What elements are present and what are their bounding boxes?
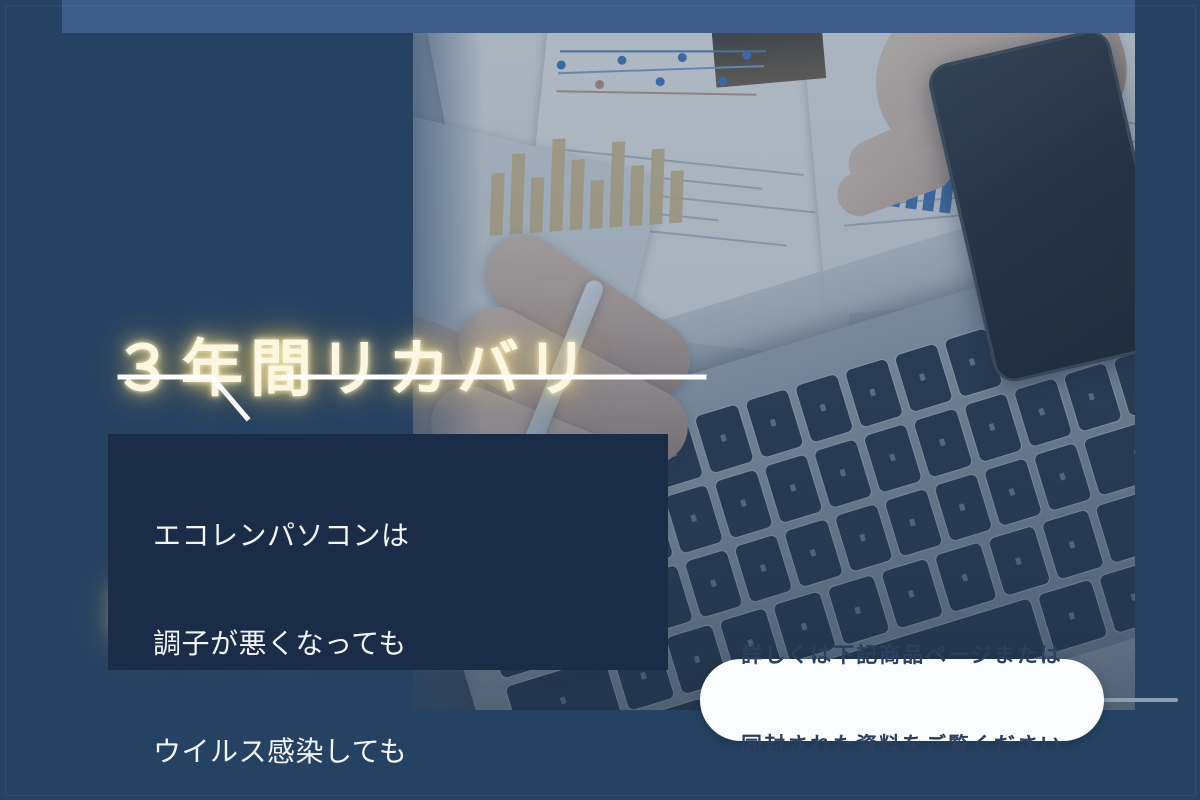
message-lines: エコレンパソコンは 調子が悪くなっても ウイルス感染しても 設定を狂わせてしまっ… <box>153 446 623 800</box>
decorative-divider <box>112 355 712 425</box>
callout-pill: 詳しくは下記商品ページまたは 同封された資料をご覧ください <box>700 659 1104 741</box>
message-box: エコレンパソコンは 調子が悪くなっても ウイルス感染しても 設定を狂わせてしまっ… <box>108 434 668 670</box>
message-line-1: エコレンパソコンは <box>153 518 623 554</box>
callout-line-2: 同封された資料をご覧ください <box>741 730 1063 760</box>
message-line-2: 調子が悪くなっても <box>153 626 623 662</box>
callout-line-1: 詳しくは下記商品ページまたは <box>741 640 1063 670</box>
promotional-banner: ３年間リカバリ 初期化サービス エコレンパソコンは 調子が悪くなっても ウイルス… <box>0 0 1200 800</box>
message-line-3: ウイルス感染しても <box>153 734 623 770</box>
top-accent-band <box>62 0 1135 33</box>
callout-pill-text: 詳しくは下記商品ページまたは 同封された資料をご覧ください <box>741 580 1063 800</box>
